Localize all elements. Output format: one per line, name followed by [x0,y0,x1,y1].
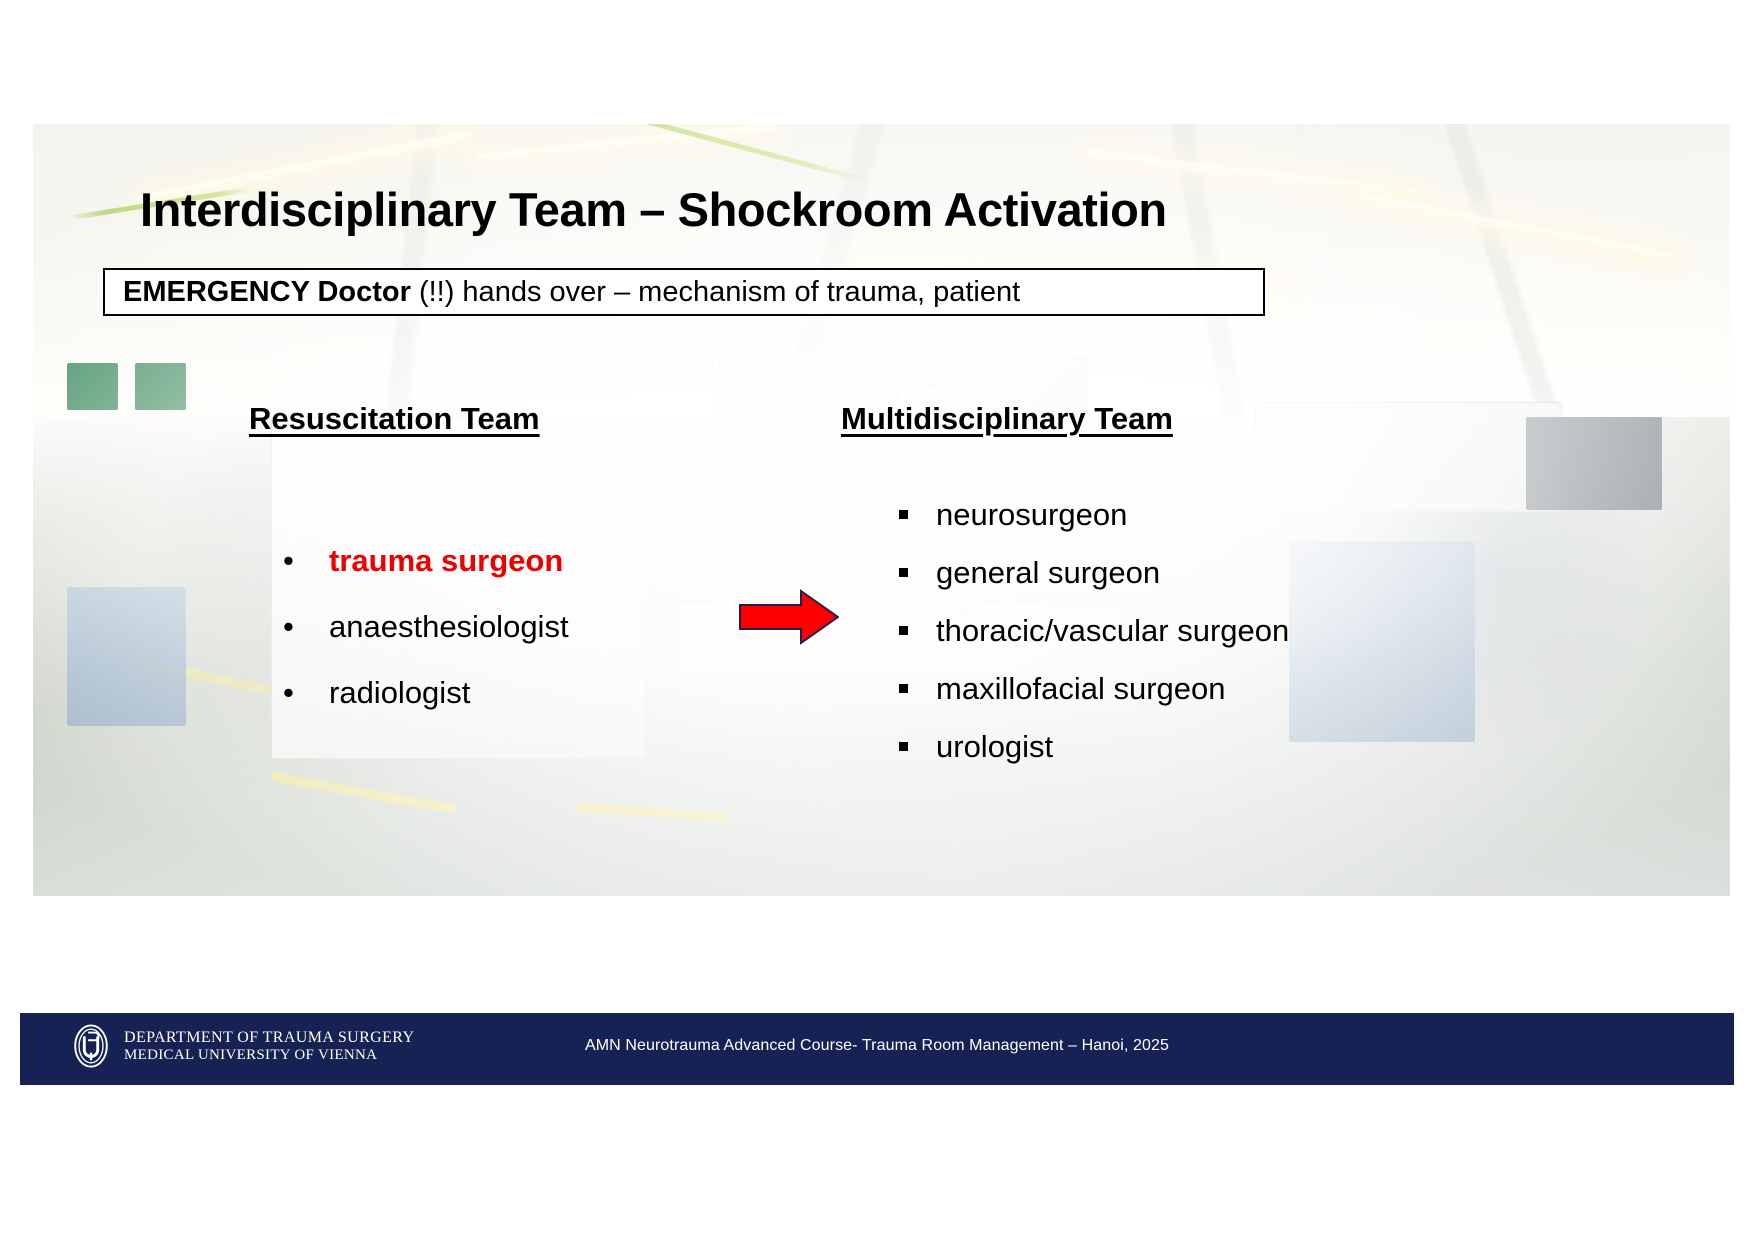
bullet-square-icon [899,727,936,763]
bullet-square-icon [899,669,936,705]
bullet-dot-icon: • [283,611,329,642]
list-item: • anaesthesiologist [283,609,569,675]
list-item-label: radiologist [329,675,470,711]
course-caption: AMN Neurotrauma Advanced Course- Trauma … [20,1037,1734,1055]
multidisciplinary-team-heading: Multidisciplinary Team [841,401,1173,437]
multidisciplinary-team-list: neurosurgeon general surgeon thoracic/va… [899,497,1289,787]
page-title: Interdisciplinary Team – Shockroom Activ… [140,182,1620,237]
bullet-dot-icon: • [283,545,329,576]
list-item-label: urologist [936,729,1053,765]
list-item: thoracic/vascular surgeon [899,613,1289,671]
red-right-arrow-icon [739,588,839,646]
footer-bar: DEPARTMENT OF TRAUMA SURGERY MEDICAL UNI… [20,1013,1734,1085]
list-item-label: trauma surgeon [329,543,563,579]
callout-text: EMERGENCY Doctor (!!) hands over – mecha… [123,276,1020,309]
list-item: general surgeon [899,555,1289,613]
list-item-label: anaesthesiologist [329,609,569,645]
callout-strong: EMERGENCY Doctor [123,276,411,308]
list-item-label: general surgeon [936,555,1160,591]
resuscitation-team-list: • trauma surgeon • anaesthesiologist • r… [283,543,569,741]
callout-rest: (!!) hands over – mechanism of trauma, p… [411,276,1020,308]
list-item: maxillofacial surgeon [899,671,1289,729]
list-item-label: thoracic/vascular surgeon [936,613,1289,649]
list-item: • trauma surgeon [283,543,569,609]
list-item-label: neurosurgeon [936,497,1127,533]
resuscitation-team-heading: Resuscitation Team [249,401,540,437]
emergency-doctor-callout: EMERGENCY Doctor (!!) hands over – mecha… [103,268,1265,316]
list-item-label: maxillofacial surgeon [936,671,1225,707]
list-item: • radiologist [283,675,569,741]
list-item: neurosurgeon [899,497,1289,555]
shock-room-photo [33,124,1730,896]
bullet-square-icon [899,495,936,531]
photo-white-wash [33,124,1730,896]
bullet-square-icon [899,611,936,647]
bullet-dot-icon: • [283,677,329,708]
slide: Interdisciplinary Team – Shockroom Activ… [0,0,1754,1241]
bullet-square-icon [899,553,936,589]
list-item: urologist [899,729,1289,787]
